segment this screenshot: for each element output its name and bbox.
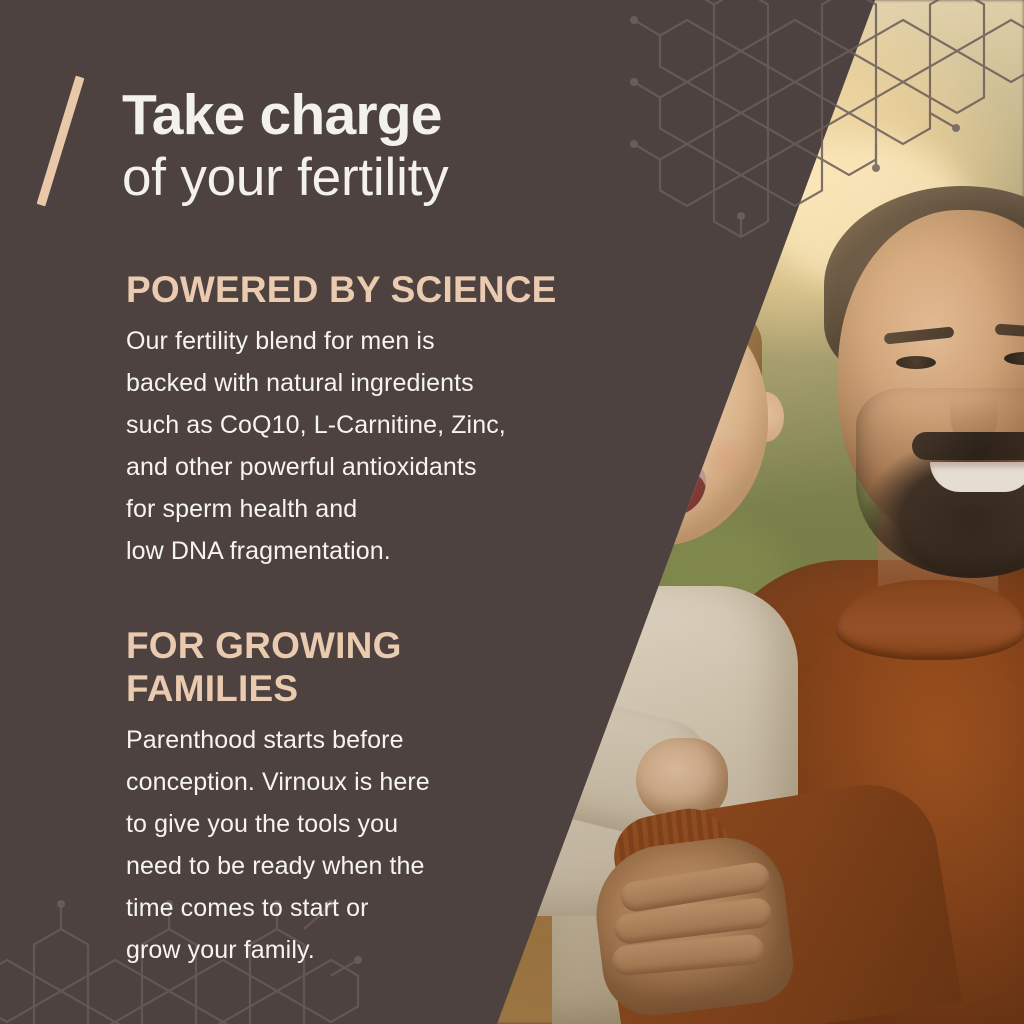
copy-column: Take charge of your fertility POWERED BY…: [0, 0, 620, 1024]
section-body: Parenthood starts before conception. Vir…: [126, 719, 566, 971]
father-sweater-collar: [836, 580, 1024, 660]
headline-line-1: Take charge: [122, 86, 448, 145]
baby-open-smile: [614, 462, 706, 516]
page-title: Take charge of your fertility: [122, 86, 448, 209]
father-mustache: [912, 432, 1024, 460]
section-title: POWERED BY SCIENCE: [126, 268, 566, 312]
section-for-growing-families: FOR GROWING FAMILIES Parenthood starts b…: [126, 624, 566, 971]
father-eye-left: [896, 356, 936, 369]
baby-eyebrow-right: [680, 368, 724, 379]
father-smile: [930, 462, 1024, 492]
baby-iris-right: [691, 393, 710, 412]
headline-line-2: of your fertility: [122, 147, 448, 210]
section-body: Our fertility blend for men is backed wi…: [126, 320, 566, 572]
slash-accent-icon: [37, 76, 85, 207]
baby-eye-right: [684, 390, 716, 414]
section-powered-by-science: POWERED BY SCIENCE Our fertility blend f…: [126, 268, 566, 572]
fertility-promo-poster: Take charge of your fertility POWERED BY…: [0, 0, 1024, 1024]
section-title: FOR GROWING FAMILIES: [126, 624, 566, 711]
sections-list: POWERED BY SCIENCE Our fertility blend f…: [126, 268, 566, 971]
baby-cheek-right: [698, 436, 756, 478]
baby-nose: [638, 424, 674, 450]
